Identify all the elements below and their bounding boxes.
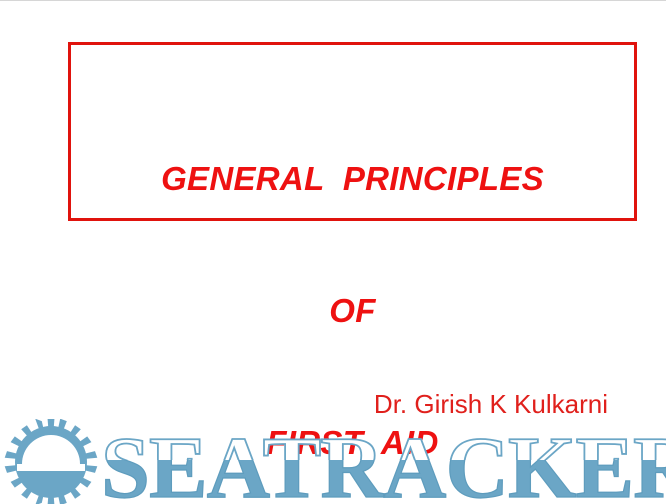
slide-canvas: GENERAL PRINCIPLES OF FIRST AID Dr. Giri… [0,0,666,504]
title-line-1: GENERAL PRINCIPLES [71,157,634,201]
author-name: Dr. Girish K Kulkarni [0,389,608,419]
title-box: GENERAL PRINCIPLES OF FIRST AID [68,42,637,221]
title-line-2: OF [71,289,634,333]
title-line-3: FIRST AID [71,421,634,465]
title-text-block: GENERAL PRINCIPLES OF FIRST AID [71,69,634,504]
